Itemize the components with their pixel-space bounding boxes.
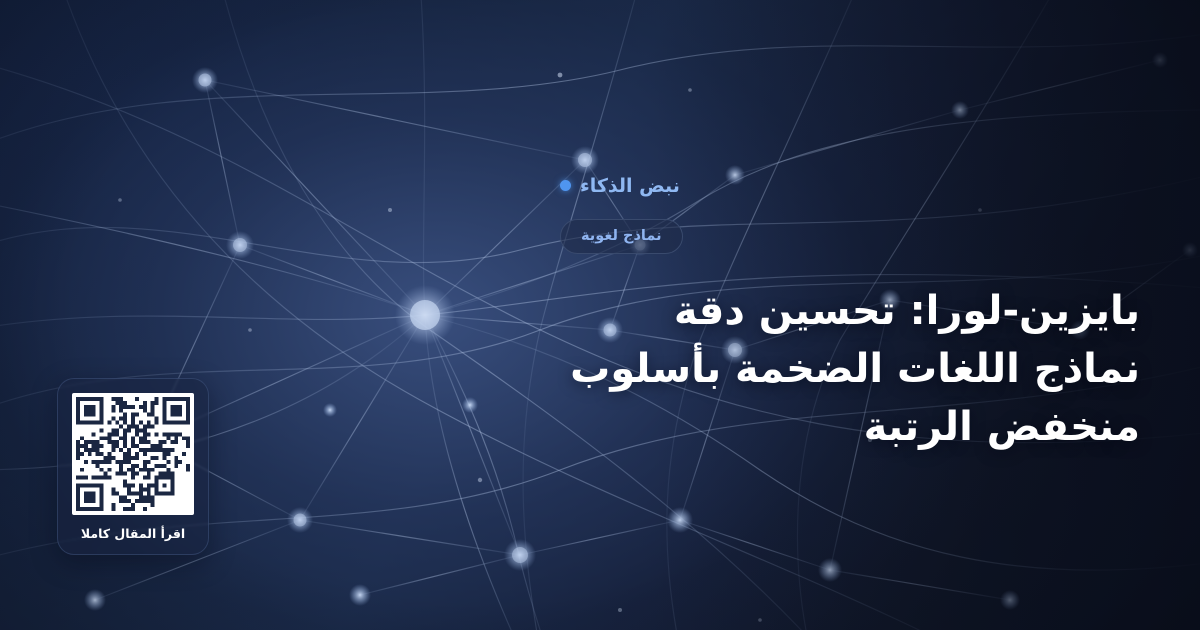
content-column: نبض الذكاء نماذج لغوية بايزين-لورا: تحسي… <box>560 0 1200 630</box>
social-share-card: اقرأ المقال كاملا نبض الذكاء نماذج لغوية… <box>0 0 1200 630</box>
qr-code-card[interactable]: اقرأ المقال كاملا <box>57 378 209 555</box>
brand-name: نبض الذكاء <box>580 175 680 197</box>
page-title: بايزين-لورا: تحسين دقة نماذج اللغات الضخ… <box>560 282 1140 456</box>
brand-dot-icon <box>560 180 571 191</box>
qr-card-label: اقرأ المقال كاملا <box>81 526 185 541</box>
qr-code-icon <box>72 393 194 515</box>
brand: نبض الذكاء <box>560 175 680 197</box>
category-badge[interactable]: نماذج لغوية <box>560 219 683 254</box>
